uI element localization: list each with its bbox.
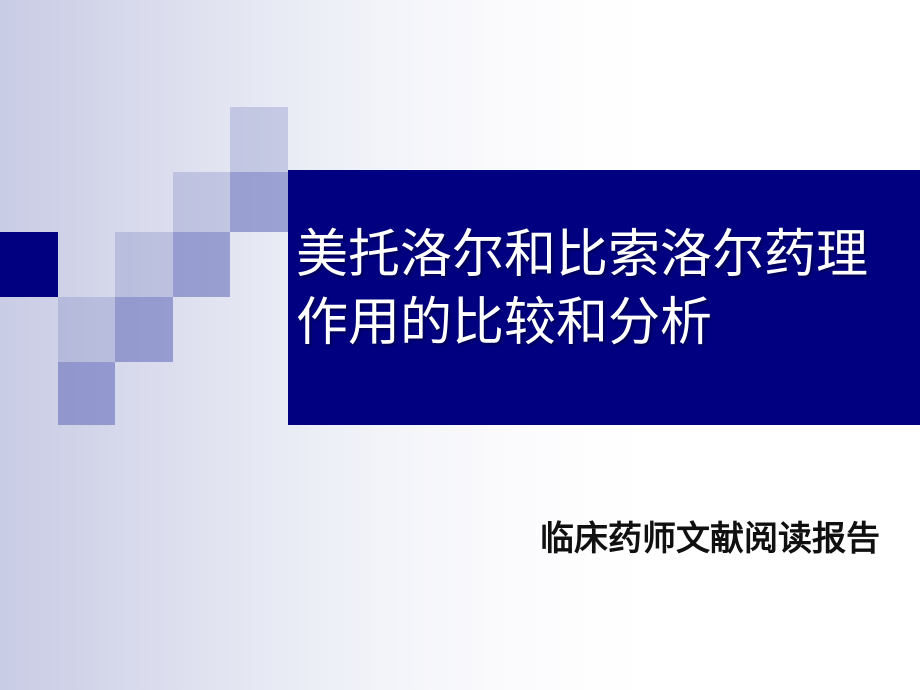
square-light-r2c3 [173, 172, 230, 232]
square-mid-r4c2 [115, 297, 173, 362]
square-light-r1c4 [230, 107, 288, 172]
page-title: 美托洛尔和比索洛尔药理作用的比较和分析 [296, 222, 896, 358]
square-mid-r5c1 [58, 362, 115, 425]
presentation-slide: 美托洛尔和比索洛尔药理作用的比较和分析 临床药师文献阅读报告 [0, 0, 920, 690]
slide-subtitle: 临床药师文献阅读报告 [0, 518, 880, 562]
square-light-r3c2 [115, 232, 173, 297]
square-light-r4c1 [58, 297, 115, 362]
square-mid-r2c4 [230, 172, 288, 232]
square-navy-r3c0 [0, 232, 58, 297]
square-mid-r3c3 [173, 232, 230, 297]
